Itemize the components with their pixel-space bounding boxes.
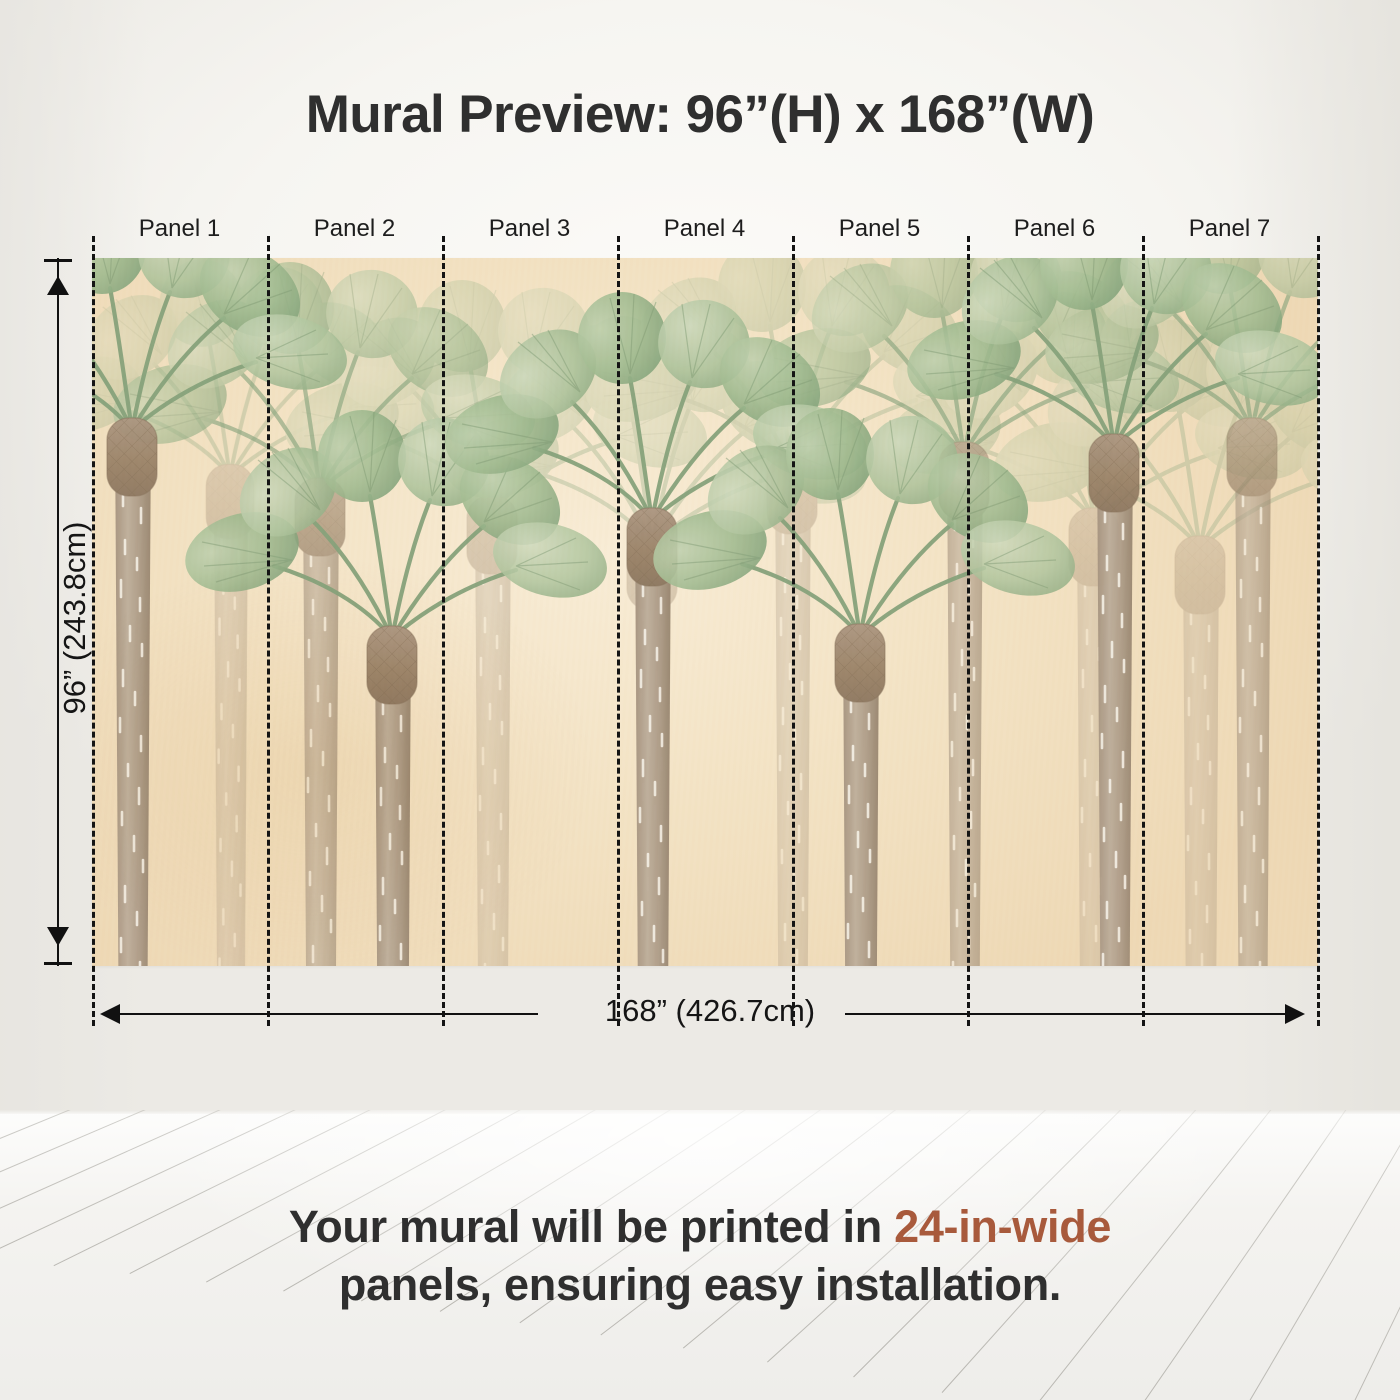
width-dimension-line-right [845, 1013, 1285, 1015]
mural-paper-texture [92, 258, 1318, 966]
height-dimension-label: 96” (243.8cm) [57, 478, 93, 758]
panel-label-2: Panel 2 [267, 215, 442, 243]
panel-divider-3 [617, 236, 620, 1026]
caption-accent-text: 24-in-wide [894, 1201, 1111, 1252]
panel-label-1: Panel 1 [92, 215, 267, 243]
panel-label-5: Panel 5 [792, 215, 967, 243]
height-arrow-up-icon [47, 276, 69, 295]
panel-label-3: Panel 3 [442, 215, 617, 243]
caption-line-1: Your mural will be printed in 24-in-wide [0, 1198, 1400, 1256]
panel-divider-5 [967, 236, 970, 1026]
height-tick-top [44, 259, 72, 262]
caption-line-2: panels, ensuring easy installation. [0, 1256, 1400, 1314]
mural-artwork [92, 258, 1318, 966]
page-title: Mural Preview: 96”(H) x 168”(W) [0, 84, 1400, 145]
height-tick-bottom [44, 962, 72, 965]
panel-divider-4 [792, 236, 795, 1026]
panel-label-6: Panel 6 [967, 215, 1142, 243]
width-arrow-left-icon [100, 1004, 120, 1024]
panel-label-4: Panel 4 [617, 215, 792, 243]
panel-divider-7 [1317, 236, 1320, 1026]
width-dimension-line-left [118, 1013, 538, 1015]
width-arrow-right-icon [1285, 1004, 1305, 1024]
footer-caption: Your mural will be printed in 24-in-wide… [0, 1198, 1400, 1313]
height-arrow-down-icon [47, 927, 69, 946]
caption-text-before: Your mural will be printed in [289, 1201, 894, 1252]
panel-divider-1 [267, 236, 270, 1026]
panel-divider-2 [442, 236, 445, 1026]
panel-label-7: Panel 7 [1142, 215, 1317, 243]
mural-preview-scene: Mural Preview: 96”(H) x 168”(W) [0, 0, 1400, 1400]
panel-divider-6 [1142, 236, 1145, 1026]
width-dimension-label: 168” (426.7cm) [530, 993, 890, 1029]
